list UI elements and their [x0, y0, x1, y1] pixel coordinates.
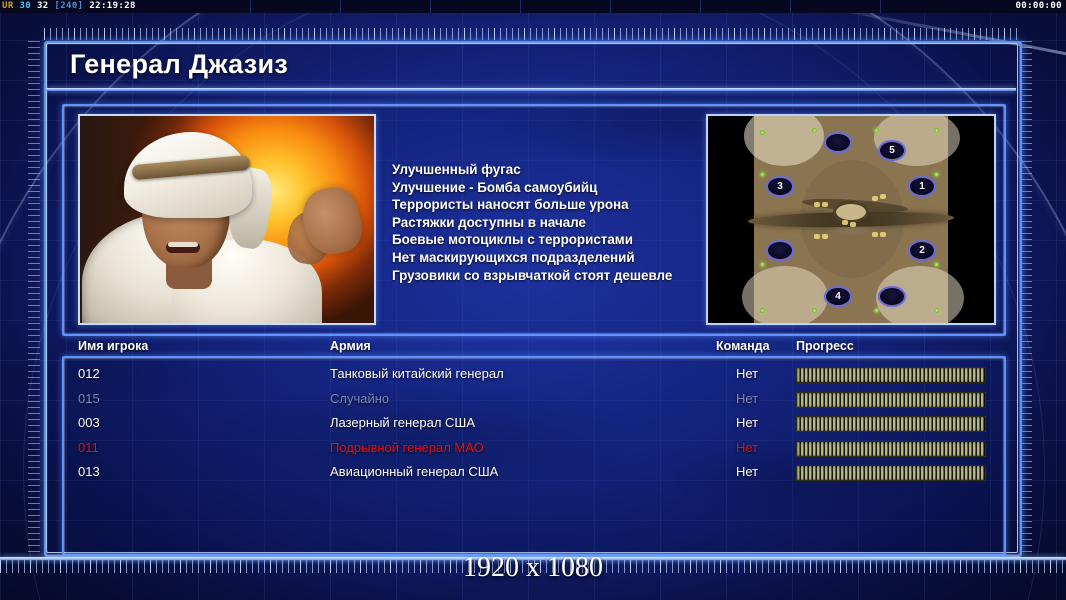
map-center-feature — [836, 204, 866, 220]
player-row[interactable]: 013Авиационный генерал СШАНет — [64, 460, 1000, 484]
game-lobby-screen: UR 30 32 [240] 22:19:28 00:00:00 Генерал… — [0, 0, 1066, 600]
player-progress-bar — [796, 465, 986, 481]
map-supply-node — [760, 308, 765, 313]
map-oil-derrick — [850, 222, 856, 227]
player-row[interactable]: 015СлучайноНет — [64, 387, 1000, 411]
player-army: Авиационный генерал США — [330, 460, 750, 484]
map-supply-node — [934, 262, 939, 267]
map-oil-derrick — [872, 232, 878, 237]
title-underline — [46, 88, 1016, 91]
hud-value-1: 30 — [19, 1, 31, 11]
ability-line: Боевые мотоциклы с террористами — [392, 231, 702, 249]
map-supply-node — [760, 172, 765, 177]
player-name: 013 — [78, 460, 308, 484]
map-start-position-5: 5 — [880, 142, 904, 159]
player-name: 012 — [78, 362, 308, 386]
player-army: Лазерный генерал США — [330, 411, 750, 435]
player-army: Подрывной генерал МАО — [330, 436, 750, 460]
map-terrain: 53124 — [754, 116, 948, 323]
player-progress-bar — [796, 367, 986, 383]
ability-line: Нет маскирующихся подразделений — [392, 249, 702, 267]
top-status-bar: UR 30 32 [240] 22:19:28 00:00:00 — [0, 0, 1066, 13]
player-progress-bar — [796, 441, 986, 457]
map-supply-node — [760, 130, 765, 135]
ruler-left — [28, 41, 40, 553]
map-start-position-2: 2 — [910, 242, 934, 259]
hud-value-3: [240] — [54, 1, 83, 11]
map-oil-derrick — [814, 202, 820, 207]
map-supply-node — [874, 128, 879, 133]
ability-line: Террористы наносят больше урона — [392, 196, 702, 214]
map-supply-node — [760, 262, 765, 267]
map-oil-derrick — [880, 232, 886, 237]
hud-prefix: UR — [2, 1, 14, 11]
ability-line: Грузовики со взрывчаткой стоят дешевле — [392, 267, 702, 285]
hud-left-status: UR 30 32 [240] 22:19:28 — [2, 1, 136, 12]
player-name: 003 — [78, 411, 308, 435]
player-row[interactable]: 012Танковый китайский генералНет — [64, 362, 1000, 386]
column-header-army: Армия — [330, 339, 371, 353]
map-oil-derrick — [822, 234, 828, 239]
player-name: 015 — [78, 387, 308, 411]
ability-line: Улучшенный фугас — [392, 161, 702, 179]
player-army: Танковый китайский генерал — [330, 362, 750, 386]
player-row[interactable]: 003Лазерный генерал СШАНет — [64, 411, 1000, 435]
resolution-label: 1920 x 1080 — [0, 552, 1066, 584]
hud-right-timer: 00:00:00 — [1015, 1, 1062, 12]
column-header-progress: Прогресс — [796, 339, 854, 353]
map-blotch — [742, 266, 828, 325]
ruler-top — [44, 28, 1018, 40]
ability-line: Улучшение - Бомба самоубийц — [392, 179, 702, 197]
map-supply-node — [812, 128, 817, 133]
map-supply-node — [934, 308, 939, 313]
column-header-name: Имя игрока — [78, 339, 148, 353]
portrait-teeth — [168, 242, 198, 247]
ability-line: Растяжки доступны в начале — [392, 214, 702, 232]
map-start-position-1 — [826, 134, 850, 151]
page-title: Генерал Джазиз — [70, 49, 288, 80]
map-start-position-4: 4 — [826, 288, 850, 305]
map-start-position-5 — [768, 242, 792, 259]
map-supply-node — [874, 308, 879, 313]
player-progress-bar — [796, 392, 986, 408]
player-name: 011 — [78, 436, 308, 460]
map-oil-derrick — [872, 196, 878, 201]
map-supply-node — [812, 308, 817, 313]
general-abilities-list: Улучшенный фугас Улучшение - Бомба самоу… — [392, 161, 702, 284]
general-portrait — [78, 114, 376, 325]
map-start-position-3: 3 — [768, 178, 792, 195]
column-header-team: Команда — [716, 339, 770, 353]
hud-value-2: 32 — [37, 1, 49, 11]
map-supply-node — [934, 172, 939, 177]
map-blotch — [744, 114, 824, 166]
map-oil-derrick — [814, 234, 820, 239]
map-start-position-8 — [880, 288, 904, 305]
map-oil-derrick — [880, 194, 886, 199]
map-preview[interactable]: 53124 — [706, 114, 996, 325]
hud-clock: 22:19:28 — [89, 1, 136, 11]
player-row[interactable]: 011Подрывной генерал МАОНет — [64, 436, 1000, 460]
map-supply-node — [934, 128, 939, 133]
player-army: Случайно — [330, 387, 750, 411]
map-start-position-1: 1 — [910, 178, 934, 195]
player-progress-bar — [796, 416, 986, 432]
map-oil-derrick — [842, 220, 848, 225]
map-oil-derrick — [822, 202, 828, 207]
